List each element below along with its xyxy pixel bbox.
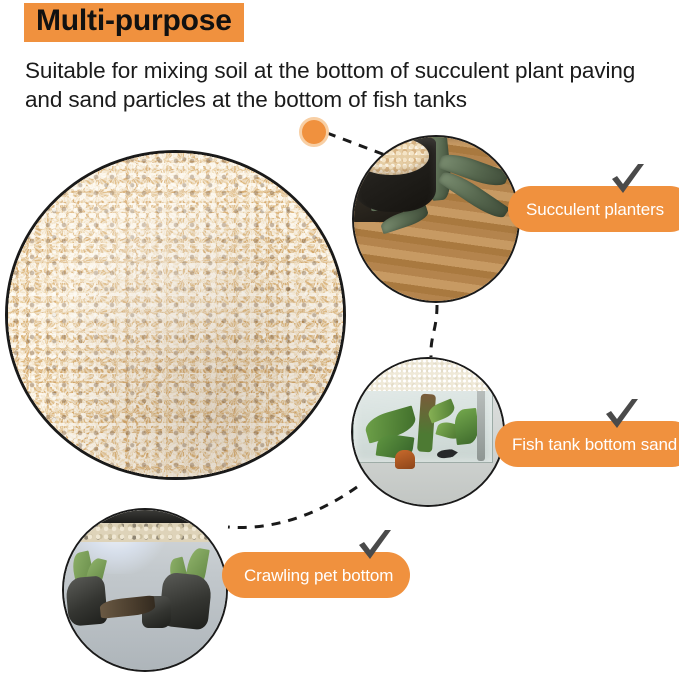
label-pill[interactable]: Succulent planters — [508, 186, 679, 232]
photo-fish-tank — [351, 357, 505, 507]
callout-label: Fish tank bottom sand — [512, 436, 677, 453]
label-pill[interactable]: Fish tank bottom sand — [495, 421, 679, 467]
infographic-stage: Multi-purpose Suitable for mixing soil a… — [0, 0, 679, 674]
gravel-sample-closeup — [5, 150, 346, 480]
photo-succulent-planter — [352, 135, 520, 303]
tank-sand-substrate — [353, 359, 488, 391]
origin-dot-marker — [299, 117, 329, 147]
gravel-shading-overlay — [8, 153, 343, 477]
callout-label: Crawling pet bottom — [244, 567, 393, 584]
label-pill[interactable]: Crawling pet bottom — [222, 552, 410, 598]
callout-fish-tank-bottom-sand[interactable]: Fish tank bottom sand — [495, 421, 679, 467]
callout-crawling-pet-bottom[interactable]: Crawling pet bottom — [222, 552, 410, 598]
terrarium-base-shadow — [64, 510, 226, 523]
aquatic-plant — [453, 408, 479, 445]
photo-crawling-pet-tank — [62, 508, 228, 672]
callout-label: Succulent planters — [526, 201, 664, 218]
terrarium-rock — [65, 576, 108, 627]
pot-gravel-topping — [354, 137, 429, 175]
tank-filter-tube — [477, 388, 485, 461]
callout-succulent-planters[interactable]: Succulent planters — [508, 186, 679, 232]
tank-ornament — [395, 450, 415, 469]
